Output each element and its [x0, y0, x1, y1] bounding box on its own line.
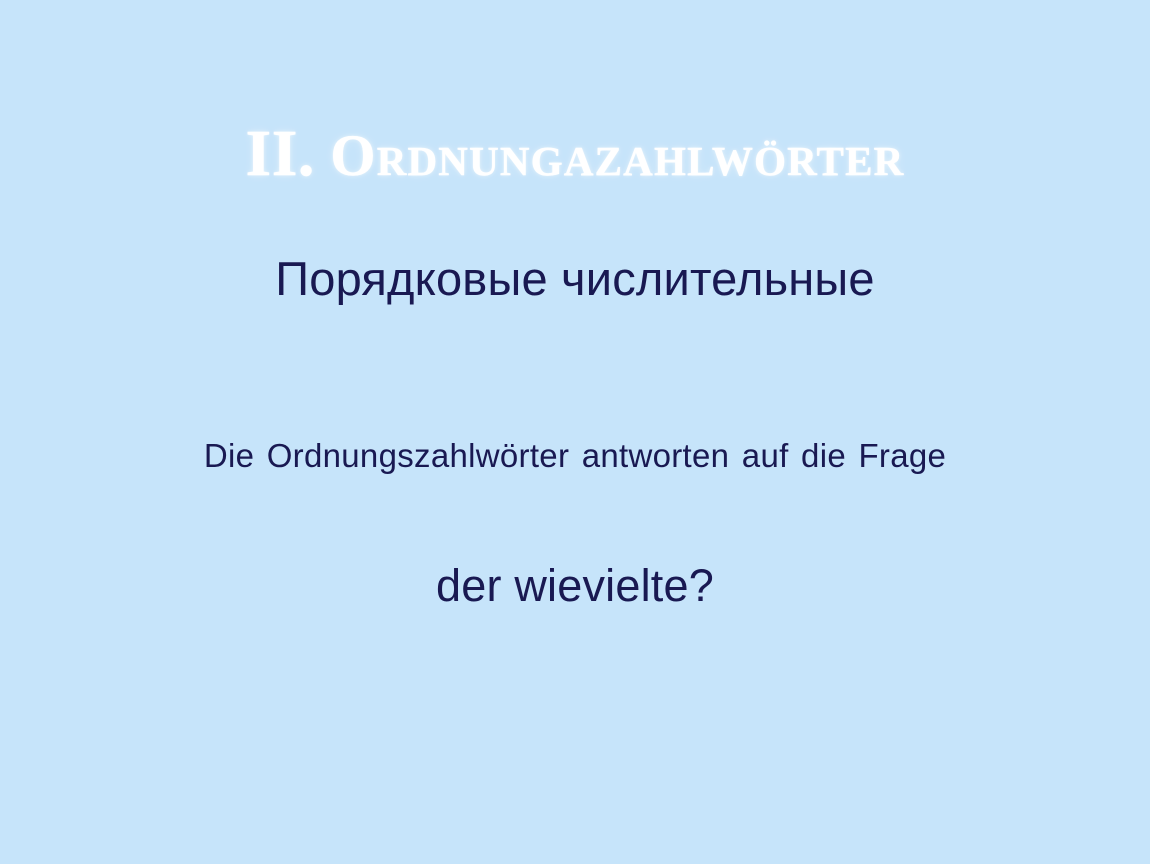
title-roman-numeral: II.	[246, 117, 315, 190]
slide-canvas: II. Ordnungazahlwörter Порядковые числит…	[0, 0, 1150, 864]
german-question: der wievielte?	[0, 560, 1150, 612]
german-question-intro: Die Ordnungszahlwörter antworten auf die…	[0, 437, 1150, 475]
russian-heading: Порядковые числительные	[0, 251, 1150, 306]
title-main-text: Ordnungazahlwörter	[330, 123, 904, 188]
page-title: II. Ordnungazahlwörter	[0, 116, 1150, 192]
